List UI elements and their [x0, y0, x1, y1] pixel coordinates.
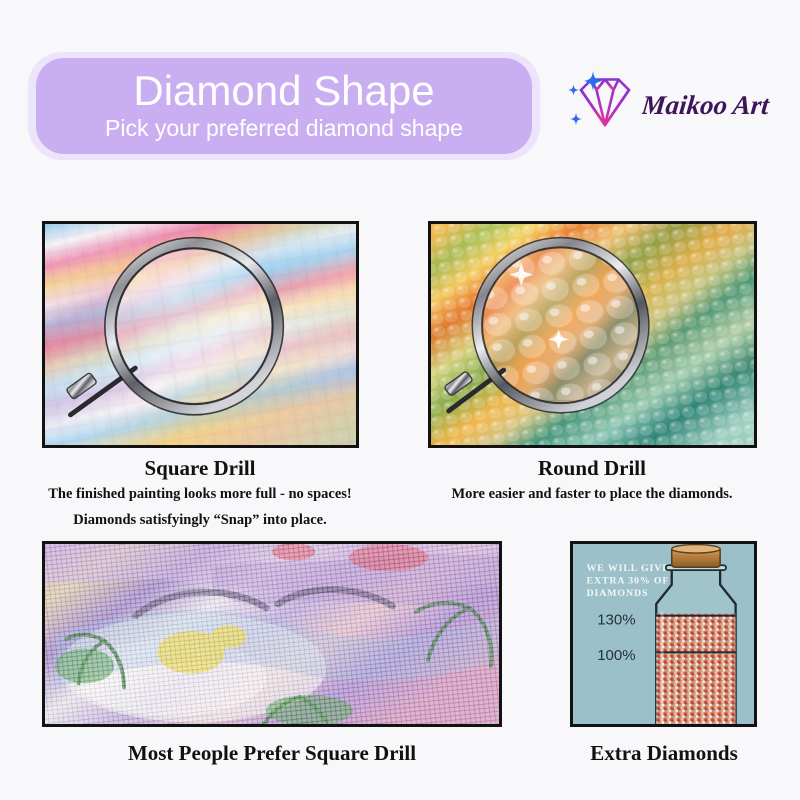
square-drill-title: Square Drill: [22, 455, 378, 481]
square-drill-photo: [42, 221, 359, 448]
level-label-lower: 100%: [597, 647, 635, 664]
brand-logo: Maikoo Art: [560, 62, 792, 146]
extra-diamonds-title: Extra Diamonds: [560, 740, 768, 766]
square-drill-line-2: Diamonds satisfyingly “Snap” into place.: [22, 507, 378, 533]
promo-page: Diamond Shape Pick your preferred diamon…: [0, 0, 800, 800]
bottle-headline-line-1: WE WILL GIVE: [587, 563, 670, 574]
banner: Diamond Shape Pick your preferred diamon…: [36, 58, 532, 154]
page-title: Diamond Shape: [133, 68, 434, 114]
extra-diamonds-caption: Extra Diamonds: [560, 740, 768, 766]
round-drill-line-1: More easier and faster to place the diam…: [412, 481, 772, 507]
page-header: Diamond Shape Pick your preferred diamon…: [0, 0, 800, 185]
page-subtitle: Pick your preferred diamond shape: [105, 115, 463, 142]
round-drill-title: Round Drill: [412, 455, 772, 481]
mosaic-caption: Most People Prefer Square Drill: [22, 740, 522, 766]
extra-diamonds-bottle-illustration: WE WILL GIVE EXTRA 30% OF DIAMONDS 130% …: [570, 541, 757, 727]
bottle-headline-line-3: DIAMONDS: [587, 588, 649, 599]
finished-square-drill-painting-photo: [42, 541, 502, 727]
round-drill-photo: [428, 221, 757, 448]
mosaic-title: Most People Prefer Square Drill: [22, 740, 522, 766]
bottle-headline-line-2: EXTRA 30% OF: [587, 576, 670, 587]
round-drill-caption: Round Drill More easier and faster to pl…: [412, 455, 772, 507]
diamond-gem-icon: [560, 65, 638, 143]
square-drill-line-1: The finished painting looks more full - …: [22, 481, 378, 507]
level-label-upper: 130%: [597, 611, 635, 628]
brand-name: Maikoo Art: [642, 84, 792, 124]
svg-text:Maikoo Art: Maikoo Art: [642, 90, 772, 120]
square-drill-caption: Square Drill The finished painting looks…: [22, 455, 378, 533]
